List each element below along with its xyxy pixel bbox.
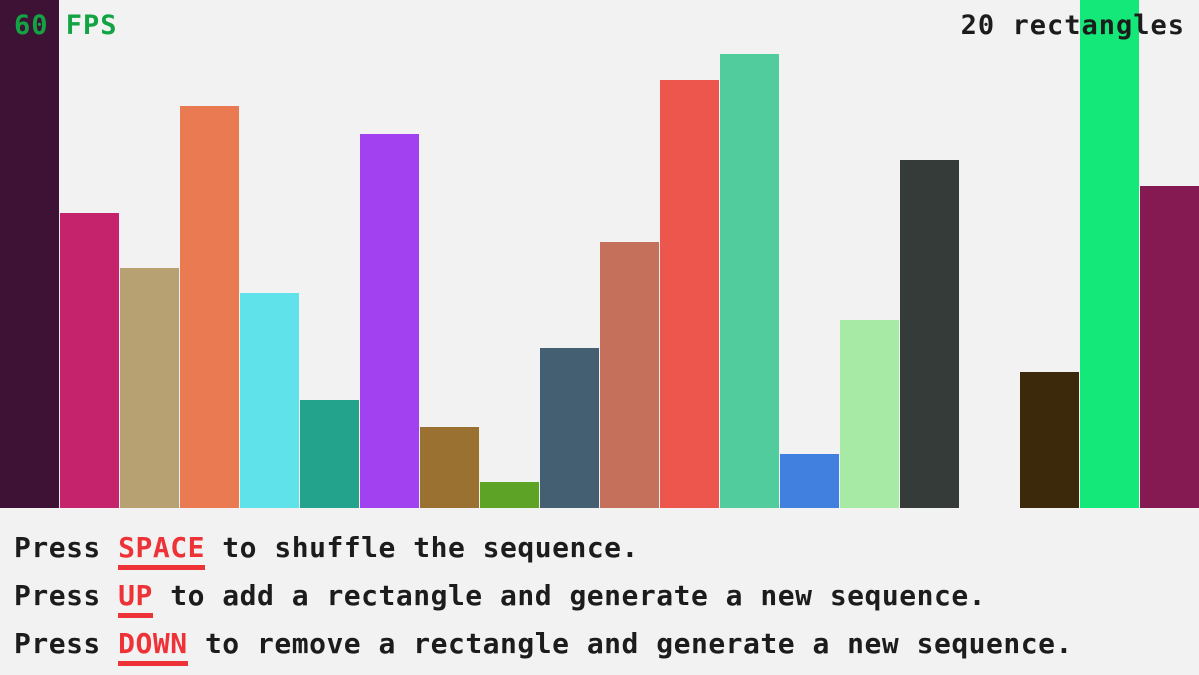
key-hint-up[interactable]: UP [118,579,153,618]
instruction-suffix: to shuffle the sequence. [205,531,639,564]
chart-bar [1080,0,1139,508]
chart-bar [720,54,779,508]
instruction-prefix: Press [14,627,118,660]
chart-bar [600,242,659,508]
instruction-line-3: Press DOWN to remove a rectangle and gen… [14,620,1199,668]
chart-bar [900,160,959,508]
chart-bar [60,213,119,508]
rectangle-count-label: 20 rectangles [961,10,1185,41]
instruction-line-1: Press SPACE to shuffle the sequence. [14,524,1199,572]
chart-bar [840,320,899,508]
chart-bar [0,0,59,508]
chart-bar [360,134,419,508]
chart-bar [120,268,179,508]
fps-counter: 60 FPS [14,10,118,41]
instruction-prefix: Press [14,531,118,564]
bar-chart [0,0,1199,508]
chart-bar [780,454,839,508]
key-hint-space[interactable]: SPACE [118,531,205,570]
chart-bar [480,482,539,508]
chart-bar [180,106,239,508]
instruction-suffix: to remove a rectangle and generate a new… [188,627,1073,660]
chart-bar [300,400,359,508]
chart-bar [1020,372,1079,508]
chart-bar [540,348,599,508]
chart-bar [1140,186,1199,508]
instructions-panel: Press SPACE to shuffle the sequence.Pres… [0,512,1199,675]
key-hint-down[interactable]: DOWN [118,627,187,666]
chart-bar [660,80,719,508]
instruction-suffix: to add a rectangle and generate a new se… [153,579,986,612]
chart-bar [420,427,479,508]
chart-bar [240,293,299,508]
instruction-line-2: Press UP to add a rectangle and generate… [14,572,1199,620]
instruction-prefix: Press [14,579,118,612]
app-canvas: 60 FPS 20 rectangles Press SPACE to shuf… [0,0,1199,675]
